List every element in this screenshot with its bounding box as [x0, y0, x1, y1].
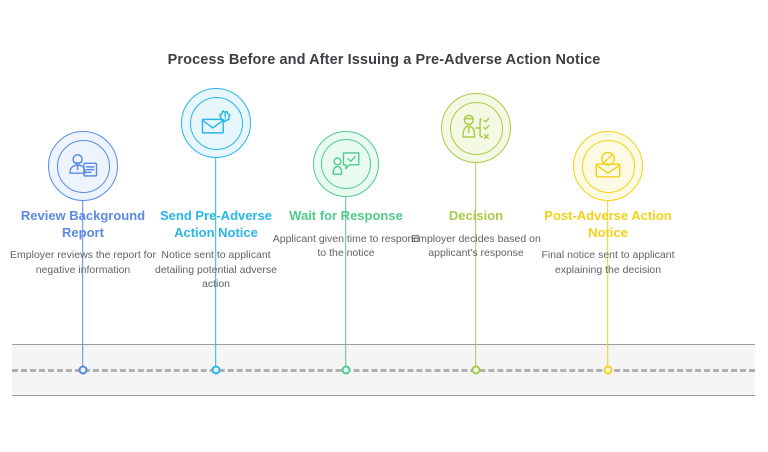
timeline-road: [12, 344, 755, 396]
step-icon-badge[interactable]: [313, 131, 379, 197]
step-text-block: Post-Adverse Action NoticeFinal notice s…: [533, 208, 683, 277]
step-text-block: Review Background ReportEmployer reviews…: [8, 208, 158, 277]
step-description: Final notice sent to applicant explainin…: [533, 248, 683, 277]
road-marker-dot: [212, 366, 221, 375]
road-marker-dot: [604, 366, 613, 375]
step-circle-outer: [441, 93, 511, 163]
step-icon-badge[interactable]: [441, 93, 511, 163]
road-dashed-line: [12, 369, 755, 372]
step-circle-inner: [321, 139, 371, 189]
envelope-blocked-icon: [590, 148, 626, 184]
step-icon-badge[interactable]: [573, 131, 643, 201]
step-heading: Review Background Report: [8, 208, 158, 241]
envelope-alert-icon: [198, 105, 234, 141]
step-heading: Post-Adverse Action Notice: [533, 208, 683, 241]
step-circle-outer: [181, 88, 251, 158]
step-connector-line: [475, 163, 476, 370]
step-circle-outer: [313, 131, 379, 197]
step-description: Employer decides based on applicant's re…: [401, 232, 551, 261]
step-heading: Decision: [401, 208, 551, 225]
step-circle-inner: [582, 140, 635, 193]
step-description: Applicant given time to respond to the n…: [271, 232, 421, 261]
infographic-canvas: Process Before and After Issuing a Pre-A…: [0, 0, 768, 452]
step-text-block: DecisionEmployer decides based on applic…: [401, 208, 551, 261]
step-text-block: Wait for ResponseApplicant given time to…: [271, 208, 421, 261]
step-icon-badge[interactable]: [181, 88, 251, 158]
road-marker-dot: [79, 366, 88, 375]
step-icon-badge[interactable]: [48, 131, 118, 201]
page-title: Process Before and After Issuing a Pre-A…: [0, 52, 768, 68]
person-decision-tree-icon: [458, 110, 494, 146]
step-heading: Send Pre-Adverse Action Notice: [141, 208, 291, 241]
step-circle-inner: [190, 97, 243, 150]
step-description: Employer reviews the report for negative…: [8, 248, 158, 277]
step-circle-outer: [573, 131, 643, 201]
step-description: Notice sent to applicant detailing poten…: [141, 248, 291, 291]
road-marker-dot: [342, 366, 351, 375]
step-text-block: Send Pre-Adverse Action NoticeNotice sen…: [141, 208, 291, 292]
person-speech-check-icon: [329, 147, 363, 181]
road-marker-dot: [472, 366, 481, 375]
person-document-icon: [65, 148, 101, 184]
step-heading: Wait for Response: [271, 208, 421, 225]
step-circle-inner: [450, 102, 503, 155]
step-circle-inner: [57, 140, 110, 193]
step-circle-outer: [48, 131, 118, 201]
